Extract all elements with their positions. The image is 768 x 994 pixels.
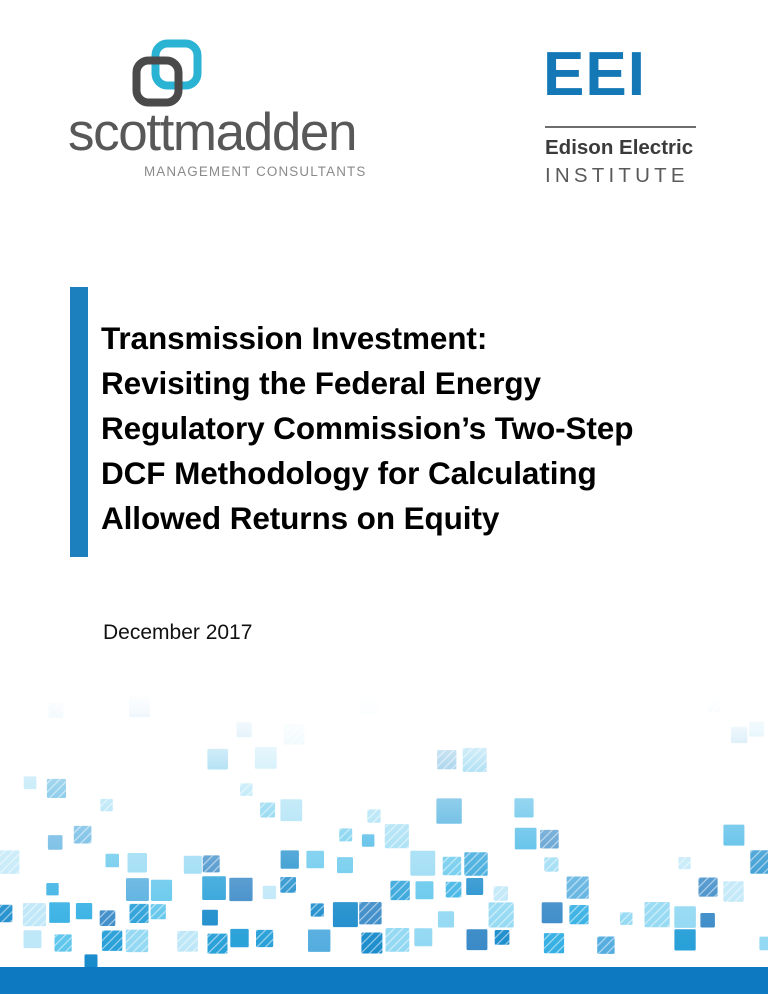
mosaic-square-hatch (311, 903, 324, 916)
mosaic-square (410, 851, 435, 876)
mosaic-square-hatch (0, 905, 12, 922)
mosaic-square (308, 930, 330, 952)
mosaic-square-hatch (679, 857, 691, 869)
eei-divider-rule (545, 126, 696, 128)
mosaic-square (466, 878, 483, 895)
mosaic-square (202, 910, 218, 926)
mosaic-square (263, 886, 276, 899)
mosaic-square (280, 799, 302, 821)
mosaic-square (749, 722, 764, 737)
mosaic-square (106, 854, 120, 868)
mosaic-square-hatch (74, 826, 92, 844)
document-cover-page: scottmadden MANAGEMENT CONSULTANTS EEI E… (0, 0, 768, 994)
mosaic-square-hatch (49, 703, 64, 718)
mosaic-square (46, 883, 58, 895)
mosaic-square-hatch (750, 850, 768, 874)
mosaic-square (731, 727, 747, 743)
mosaic-square-hatch (544, 857, 558, 871)
mosaic-square (333, 902, 358, 927)
mosaic-square-hatch (55, 934, 72, 951)
mosaic-square-hatch (339, 828, 352, 841)
title-line: Transmission Investment: (101, 316, 701, 361)
mosaic-square (24, 930, 42, 948)
mosaic-square (700, 913, 715, 928)
mosaic-square (281, 850, 299, 868)
mosaic-square-hatch (446, 882, 462, 898)
title-line: Regulatory Commission’s Two-Step (101, 406, 701, 451)
mosaic-square-hatch (256, 930, 273, 947)
mosaic-square-hatch (367, 809, 380, 822)
bottom-accent-bar (0, 967, 768, 994)
mosaic-square (467, 929, 488, 950)
mosaic-square-hatch (23, 903, 46, 926)
mosaic-square (514, 798, 533, 817)
mosaic-square (436, 798, 461, 823)
mosaic-square-hatch (151, 904, 166, 919)
mosaic-square (515, 828, 537, 850)
mosaic-square (414, 928, 432, 946)
mosaic-square-hatch (361, 933, 382, 954)
mosaic-square (129, 696, 150, 717)
mosaic-square-hatch (260, 803, 275, 818)
mosaic-square-hatch (620, 912, 633, 925)
mosaic-square (24, 776, 37, 789)
mosaic-square-hatch (709, 700, 721, 712)
mosaic-square-hatch (284, 724, 305, 745)
mosaic-square-hatch (489, 902, 514, 927)
publication-date: December 2017 (103, 620, 252, 646)
mosaic-square-hatch (102, 931, 122, 951)
mosaic-square-hatch (47, 779, 66, 798)
mosaic-square-hatch (443, 857, 462, 876)
eei-initials: EEI (543, 40, 646, 110)
title-accent-bar (70, 287, 88, 557)
mosaic-square-hatch (386, 928, 410, 952)
mosaic-square (76, 903, 92, 919)
mosaic-square (255, 747, 277, 769)
mosaic-square (48, 835, 63, 850)
mosaic-square-hatch (390, 881, 409, 900)
mosaic-square (85, 954, 98, 967)
scottmadden-tagline: MANAGEMENT CONSULTANTS (144, 164, 366, 180)
mosaic-square (229, 878, 252, 901)
mosaic-square-hatch (130, 904, 149, 923)
mosaic-square-hatch (0, 850, 19, 874)
scottmadden-wordmark: scottmadden (68, 104, 378, 162)
title-line: DCF Methodology for Calculating (101, 451, 701, 496)
mosaic-square (207, 749, 228, 770)
mosaic-square-hatch (544, 933, 564, 953)
eei-institute-label: INSTITUTE (545, 163, 689, 189)
mosaic-square-hatch (280, 877, 296, 893)
title-line: Allowed Returns on Equity (101, 496, 701, 541)
mosaic-square (674, 906, 696, 928)
mosaic-square-hatch (645, 902, 670, 927)
mosaic-square-hatch (463, 748, 487, 772)
eei-logo: EEI Edison Electric INSTITUTE (540, 40, 715, 182)
mosaic-square (360, 696, 379, 715)
mosaic-square-hatch (495, 930, 510, 945)
title-block: Transmission Investment: Revisiting the … (70, 287, 690, 557)
eei-organization-name: Edison Electric (545, 135, 693, 161)
mosaic-square (230, 929, 248, 947)
mosaic-square-hatch (597, 937, 614, 954)
mosaic-square (126, 878, 149, 901)
mosaic-square-hatch (203, 855, 220, 872)
mosaic-square-hatch (359, 902, 381, 924)
mosaic-square (759, 937, 768, 951)
mosaic-square (151, 880, 172, 901)
mosaic-square-hatch (385, 824, 409, 848)
mosaic-square (542, 902, 563, 923)
mosaic-square-hatch (569, 905, 588, 924)
mosaic-square (128, 853, 148, 873)
mosaic-square (674, 929, 695, 950)
mosaic-square-hatch (177, 931, 198, 952)
mosaic-square (306, 851, 324, 869)
mosaic-canvas (0, 694, 768, 994)
mosaic-square-hatch (494, 886, 508, 900)
mosaic-square-hatch (540, 830, 559, 849)
footer-mosaic-decoration (0, 694, 768, 994)
mosaic-square (723, 825, 744, 846)
mosaic-square (202, 876, 226, 900)
mosaic-square-hatch (567, 877, 589, 899)
mosaic-square (184, 856, 202, 874)
mosaic-square (237, 722, 252, 737)
mosaic-square-hatch (126, 930, 149, 953)
scottmadden-logo: scottmadden MANAGEMENT CONSULTANTS (68, 38, 378, 178)
mosaic-square-hatch (208, 934, 228, 954)
scottmadden-interlocking-squares-icon (130, 38, 206, 110)
title-line: Revisiting the Federal Energy (101, 361, 701, 406)
mosaic-square (362, 834, 375, 847)
mosaic-square-hatch (723, 881, 743, 901)
mosaic-square-hatch (699, 878, 718, 897)
mosaic-square-hatch (437, 750, 456, 769)
page-title: Transmission Investment: Revisiting the … (101, 316, 701, 541)
mosaic-square-hatch (240, 783, 253, 796)
mosaic-square (416, 881, 434, 899)
mosaic-square (49, 902, 70, 923)
mosaic-square-hatch (464, 852, 487, 875)
mosaic-square-hatch (100, 910, 116, 926)
mosaic-square (438, 911, 454, 927)
mosaic-square (337, 857, 353, 873)
mosaic-square-hatch (100, 799, 112, 811)
